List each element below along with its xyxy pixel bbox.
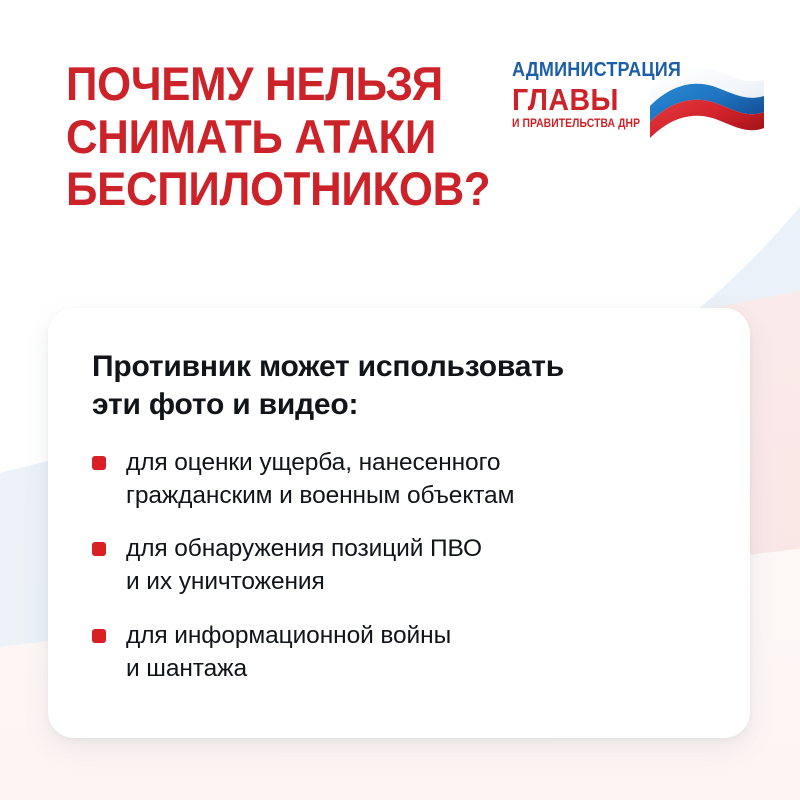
page-title: ПОЧЕМУ НЕЛЬЗЯ СНИМАТЬ АТАКИ БЕСПИЛОТНИКО… <box>66 58 475 216</box>
logo-line-government: И ПРАВИТЕЛЬСТВА ДНР <box>512 119 645 131</box>
list-item-text: для оценки ущерба, нанесенного гражданск… <box>126 447 514 513</box>
list-item-2-line-1: для обнаружения позиций ПВО <box>126 533 482 566</box>
headline-line-2: СНИМАТЬ АТАКИ <box>66 111 475 164</box>
logo-wordmark: АДМИНИСТРАЦИЯ ГЛАВЫ И ПРАВИТЕЛЬСТВА ДНР <box>512 60 660 130</box>
list-item-2-line-2: и их уничтожения <box>126 566 482 599</box>
bullet-list: для оценки ущерба, нанесенного гражданск… <box>92 447 706 686</box>
card-title-line-2: эти фото и видео: <box>92 386 706 424</box>
list-item-text: для информационной войны и шантажа <box>126 620 451 686</box>
list-item-1-line-2: гражданским и военным объектам <box>126 480 514 513</box>
card-title: Противник может использовать эти фото и … <box>92 348 706 425</box>
logo-line-head: ГЛАВЫ <box>512 84 648 115</box>
headline-line-3: БЕСПИЛОТНИКОВ? <box>66 163 475 216</box>
list-item: для обнаружения позиций ПВО и их уничтож… <box>92 533 706 599</box>
card-title-line-1: Противник может использовать <box>92 348 706 386</box>
list-item-text: для обнаружения позиций ПВО и их уничтож… <box>126 533 482 599</box>
square-bullet-icon <box>92 542 106 556</box>
list-item: для информационной войны и шантажа <box>92 620 706 686</box>
headline-line-1: ПОЧЕМУ НЕЛЬЗЯ <box>66 58 475 111</box>
list-item: для оценки ущерба, нанесенного гражданск… <box>92 447 706 513</box>
list-item-1-line-1: для оценки ущерба, нанесенного <box>126 447 514 480</box>
square-bullet-icon <box>92 456 106 470</box>
content-card: Противник может использовать эти фото и … <box>48 308 750 738</box>
list-item-3-line-1: для информационной войны <box>126 620 451 653</box>
list-item-3-line-2: и шантажа <box>126 653 451 686</box>
organization-logo: АДМИНИСТРАЦИЯ ГЛАВЫ И ПРАВИТЕЛЬСТВА ДНР <box>518 52 768 156</box>
logo-line-administration: АДМИНИСТРАЦИЯ <box>512 60 642 81</box>
poster-root: ПОЧЕМУ НЕЛЬЗЯ СНИМАТЬ АТАКИ БЕСПИЛОТНИКО… <box>0 0 800 800</box>
square-bullet-icon <box>92 629 106 643</box>
